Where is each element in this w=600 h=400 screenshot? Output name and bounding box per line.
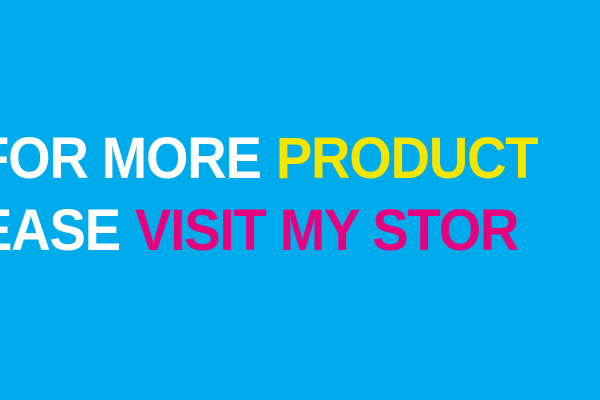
headline-line-1-segment-white: FOR MORE xyxy=(0,126,261,191)
headline-line-2-segment-magenta: VISIT MY STOR xyxy=(135,198,518,263)
headline-block: FOR MOREPRODUCT EASEVISIT MY STOR xyxy=(0,123,600,267)
promo-banner: FOR MOREPRODUCT EASEVISIT MY STOR xyxy=(0,0,600,400)
headline-line-2: EASEVISIT MY STOR xyxy=(0,195,600,267)
headline-line-2-segment-white: EASE xyxy=(0,198,120,263)
headline-line-1: FOR MOREPRODUCT xyxy=(0,123,600,195)
headline-line-1-segment-yellow: PRODUCT xyxy=(276,126,538,191)
